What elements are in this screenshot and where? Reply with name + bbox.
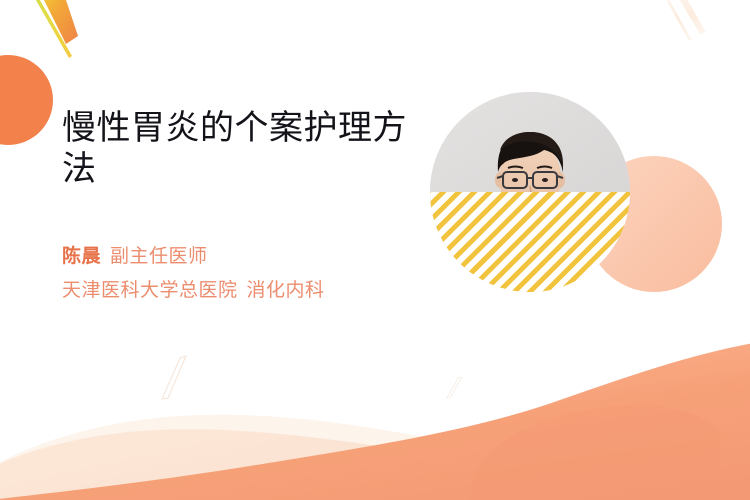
faint-peach-diagonal-stripe (663, 0, 706, 41)
orange-circle (0, 55, 53, 145)
presenter-credits: 陈晨副主任医师 天津医科大学总医院消化内科 (62, 245, 422, 303)
faint-outline-diagonal-tick (447, 377, 462, 398)
portrait-illustration (430, 92, 630, 292)
presenter-photo (430, 92, 630, 292)
presenter-hospital: 天津医科大学总医院 (62, 280, 238, 301)
presenter-name-role-line: 陈晨副主任医师 (62, 245, 422, 269)
faint-outline-diagonal-bar (162, 356, 186, 399)
presenter-name: 陈晨 (62, 246, 101, 267)
presentation-slide: 慢性胃炎的个案护理方法 陈晨副主任医师 天津医科大学总医院消化内科 (0, 0, 750, 500)
presenter-role: 副主任医师 (110, 246, 208, 267)
page-title: 慢性胃炎的个案护理方法 (62, 108, 412, 191)
presenter-affiliation-line: 天津医科大学总医院消化内科 (62, 279, 422, 303)
title-block: 慢性胃炎的个案护理方法 (62, 108, 412, 191)
photo-circle-mask (430, 92, 630, 292)
presenter-department: 消化内科 (247, 280, 325, 301)
